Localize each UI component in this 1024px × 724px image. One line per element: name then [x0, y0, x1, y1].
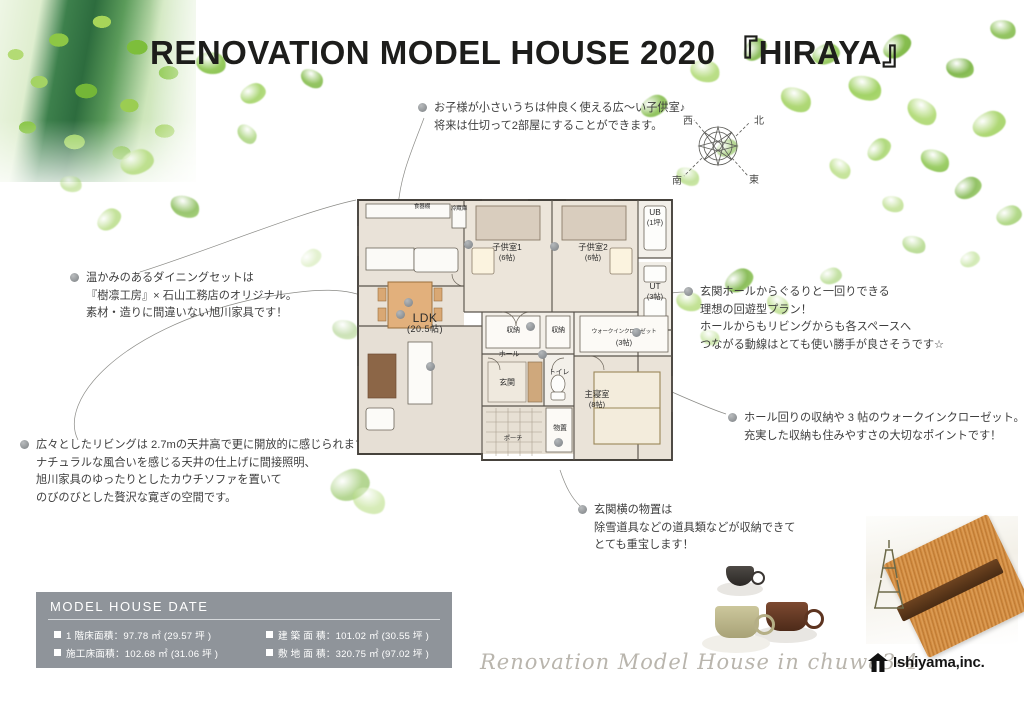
compass-label-north: 北	[754, 112, 764, 127]
room-label-toilet: トイレ	[544, 368, 574, 378]
plan-anchor-closet	[526, 322, 535, 331]
leaf-decoration	[917, 144, 953, 177]
poster-page: RENOVATION MODEL HOUSE 2020 『HIRAYA』 北 東	[0, 0, 1024, 724]
bullet-square-icon	[266, 631, 273, 638]
plan-anchor-living	[426, 362, 435, 371]
annotation-line: 素材・造りに間違いない旭川家具です！	[86, 305, 297, 323]
compass-label-east: 東	[749, 171, 759, 186]
leaf-decoration	[845, 71, 886, 106]
annotation-line: のびのびとした贅沢な寛ぎの空間です。	[36, 490, 377, 508]
compass-label-south: 南	[672, 172, 682, 187]
bullet-square-icon	[54, 649, 61, 656]
annotation-bullet-icon	[418, 103, 427, 112]
annotation-line: 広々としたリビングは 2.7mの天井高で更に開放的に感じられます！	[36, 437, 377, 455]
leaf-decoration	[826, 154, 855, 183]
leaf-decoration	[900, 232, 929, 257]
house-logo-icon	[868, 653, 888, 672]
annotation-line: ホール回りの収納や 3 帖のウォークインクローゼット。	[744, 410, 1024, 428]
bullet-square-icon	[266, 649, 273, 656]
plan-anchor-dining	[404, 298, 413, 307]
leaf-decoration	[958, 249, 982, 269]
annotation-line: ナチュラルな風合いを感じる天井の仕上げに間接照明、	[36, 455, 377, 473]
room-label-closet-a: 収納	[496, 326, 530, 336]
leaf-decoration	[988, 17, 1018, 42]
room-label-unit-bath: UB (1坪)	[640, 208, 670, 227]
company-name: Ishiyama,inc.	[893, 654, 985, 671]
annotation-line: つながる動線はとても使い勝手が良さそうです☆	[700, 337, 944, 355]
leaf-decoration	[902, 92, 941, 130]
annotation-storage: ホール回りの収納や 3 帖のウォークインクローゼット。 充実した収納も住みやすさ…	[744, 410, 1024, 445]
room-label-master-bedroom: 主寝室 (8帖)	[574, 390, 620, 409]
room-label-refrigerator: 冷蔵庫	[447, 205, 471, 215]
plan-anchor-kids-1	[464, 240, 473, 249]
bullet-square-icon	[54, 631, 61, 638]
footer-script-text: Renovation Model House in chuwa3-4	[480, 650, 919, 674]
data-item-building-area: 建 築 面 積：101.02 ㎡ (30.55 坪 )	[266, 628, 429, 642]
annotation-dining-set: 温かみのあるダイニングセットは 『樹凛工房』× 石山工務店のオリジナル。 素材・…	[86, 270, 297, 323]
annotation-line: お子様が小さいうちは仲良く使える広〜い子供室♪	[434, 100, 685, 118]
annotation-kids-room: お子様が小さいうちは仲良く使える広〜い子供室♪ 将来は仕切って2部屋にすることが…	[434, 100, 685, 135]
annotation-line: 旭川家具のゆったりとしたカウチソファを置いて	[36, 472, 377, 490]
leaf-decoration	[951, 173, 985, 203]
room-label-entrance: 玄関	[490, 378, 524, 388]
plan-anchor-kids-2	[550, 242, 559, 251]
leaf-decoration	[238, 80, 269, 107]
book-and-eiffel-photo	[866, 516, 1018, 644]
annotation-bullet-icon	[684, 287, 693, 296]
room-label-porch: ポーチ	[500, 434, 526, 444]
room-label-kids-room-2: 子供室2 (6帖)	[560, 243, 626, 262]
data-box-header: MODEL HOUSE DATE	[50, 599, 209, 614]
plan-anchor-shed	[554, 438, 563, 447]
room-label-utility: UT (3帖)	[640, 282, 670, 301]
plan-anchor-ldk	[396, 310, 405, 319]
room-label-kids-room-1: 子供室1 (6帖)	[474, 243, 540, 262]
data-item-construction-floor-area: 施工床面積：102.68 ㎡ (31.06 坪 )	[54, 646, 218, 660]
annotation-shed: 玄関横の物置は 除雪道具などの道具類などが収納できて とても重宝します！	[594, 502, 795, 555]
leaf-decoration	[297, 246, 324, 271]
company-logo: Ishiyama,inc.	[868, 653, 985, 672]
plan-anchor-hall	[538, 350, 547, 359]
leaf-decoration	[994, 203, 1024, 228]
annotation-bullet-icon	[70, 273, 79, 282]
annotation-line: 玄関ホールからぐるりと一回りできる	[700, 284, 944, 302]
room-label-hall: ホール	[494, 350, 524, 360]
annotation-bullet-icon	[728, 413, 737, 422]
page-title: RENOVATION MODEL HOUSE 2020 『HIRAYA』	[150, 26, 980, 74]
room-label-walk-in-closet: ウォークインクローゼット (3帖)	[578, 326, 670, 347]
annotation-living: 広々としたリビングは 2.7mの天井高で更に開放的に感じられます！ ナチュラルな…	[36, 437, 377, 507]
room-label-closet-b: 収納	[546, 326, 570, 336]
annotation-line: とても重宝します！	[594, 537, 795, 555]
leaf-decoration	[969, 107, 1009, 141]
plan-anchor-wic	[632, 328, 641, 337]
leaf-decoration	[880, 193, 906, 216]
annotation-line: 理想の回遊型プラン！	[700, 302, 944, 320]
data-item-site-area: 敷 地 面 積：320.75 ㎡ (97.02 坪 )	[266, 646, 429, 660]
annotation-line: ホールからもリビングからも各スペースへ	[700, 319, 944, 337]
floor-plan: 食器棚 冷蔵庫 子供室1 (6帖) 子供室2 (6帖) UB (1坪) UT (…	[352, 186, 676, 474]
annotation-bullet-icon	[578, 505, 587, 514]
annotation-entrance-hall: 玄関ホールからぐるりと一回りできる 理想の回遊型プラン！ ホールからもリビングか…	[700, 284, 944, 354]
annotation-line: 除雪道具などの道具類などが収納できて	[594, 520, 795, 538]
data-box-divider	[48, 619, 440, 620]
annotation-line: 充実した収納も住みやすさの大切なポイントです！	[744, 428, 1024, 446]
annotation-line: 温かみのあるダイニングセットは	[86, 270, 297, 288]
coffee-cups-photo	[706, 556, 856, 654]
leaf-decoration	[776, 82, 815, 118]
annotation-line: 将来は仕切って2部屋にすることができます。	[434, 118, 685, 136]
eiffel-tower-icon	[872, 538, 906, 612]
model-house-data-box: MODEL HOUSE DATE 1 階床面積：97.78 ㎡ (29.57 坪…	[36, 592, 452, 668]
annotation-line: 『樹凛工房』× 石山工務店のオリジナル。	[86, 288, 297, 306]
annotation-line: 玄関横の物置は	[594, 502, 795, 520]
room-label-shed: 物置	[546, 424, 574, 434]
annotation-bullet-icon	[20, 440, 29, 449]
data-item-floor-area-1f: 1 階床面積：97.78 ㎡ (29.57 坪 )	[54, 628, 211, 642]
leaf-decoration	[863, 134, 895, 165]
room-label-kitchen-cupboard: 食器棚	[402, 203, 442, 213]
